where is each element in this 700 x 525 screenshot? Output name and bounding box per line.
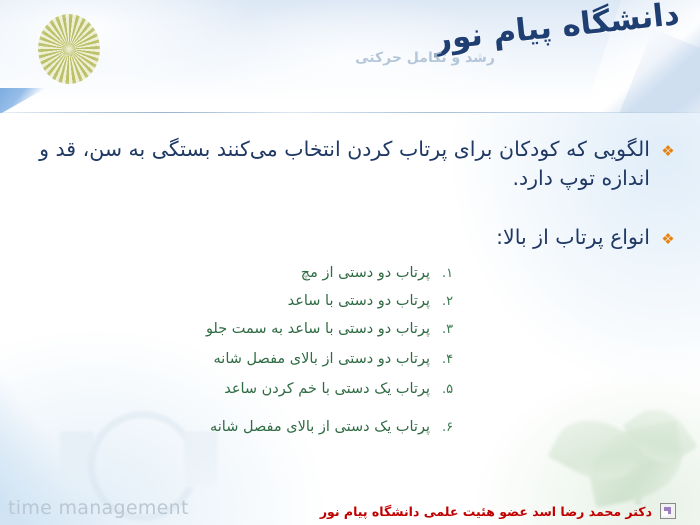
list-item-label: پرتاب یک دستی از بالای مفصل شانه <box>210 419 430 436</box>
logo-center-core <box>63 43 75 55</box>
slide-content: ❖ الگویی که کودکان برای پرتاب کردن انتخا… <box>0 113 700 525</box>
pnu-sunburst-logo-icon <box>38 14 100 84</box>
picture-placeholder-icon <box>660 503 676 519</box>
course-subtitle: رشد و تکامل حرکتی <box>355 50 495 66</box>
author-credit-text: دکتر محمد رضا اسد عضو هئیت علمی دانشگاه … <box>320 504 652 519</box>
list-item-label: پرتاب یک دستی با خم کردن ساعد <box>224 381 430 398</box>
list-item: ۳. پرتاب دو دستی با ساعد به سمت جلو <box>206 321 468 338</box>
list-item: ۶. پرتاب یک دستی از بالای مفصل شانه <box>210 419 468 436</box>
list-item-label: پرتاب دو دستی از مچ <box>301 265 430 282</box>
bullet-text: انواع پرتاب از بالا: <box>36 223 650 252</box>
bullet-item: ❖ انواع پرتاب از بالا: <box>36 223 676 252</box>
bullet-text: الگویی که کودکان برای پرتاب کردن انتخاب … <box>36 135 650 193</box>
list-item-number: ۱. <box>442 266 468 282</box>
list-item-number: ۶. <box>442 420 468 436</box>
list-item-number: ۵. <box>442 382 468 398</box>
list-item-label: پرتاب دو دستی با ساعد <box>288 293 430 310</box>
time-management-watermark: time management <box>8 497 189 519</box>
list-item-label: پرتاب دو دستی با ساعد به سمت جلو <box>206 321 430 338</box>
list-item: ۴. پرتاب دو دستی از بالای مفصل شانه <box>214 351 468 368</box>
list-item-number: ۴. <box>442 352 468 368</box>
presentation-slide: دانشگاه پیام نور رشد و تکامل حرکتی ❖ الگ… <box>0 0 700 525</box>
list-item-number: ۲. <box>442 294 468 310</box>
list-item: ۱. پرتاب دو دستی از مچ <box>301 265 468 282</box>
diamond-bullet-icon: ❖ <box>660 144 676 159</box>
list-item: ۲. پرتاب دو دستی با ساعد <box>288 293 468 310</box>
author-credit: دکتر محمد رضا اسد عضو هئیت علمی دانشگاه … <box>320 503 676 519</box>
diamond-bullet-icon: ❖ <box>660 232 676 247</box>
bullet-item: ❖ الگویی که کودکان برای پرتاب کردن انتخا… <box>36 135 676 193</box>
list-item-number: ۳. <box>442 322 468 338</box>
list-item: ۵. پرتاب یک دستی با خم کردن ساعد <box>224 381 468 398</box>
list-item-label: پرتاب دو دستی از بالای مفصل شانه <box>214 351 430 368</box>
